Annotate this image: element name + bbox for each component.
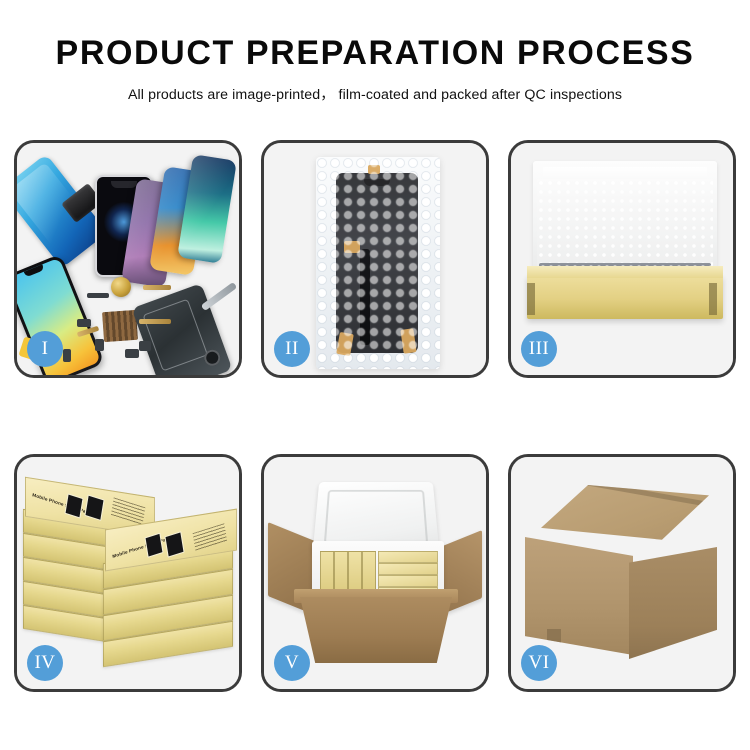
gold-coil-icon — [111, 277, 131, 297]
box-window-icon — [144, 533, 163, 558]
yellow-box-item — [348, 551, 362, 593]
carton-body-icon — [300, 597, 452, 663]
box-window-icon — [64, 493, 83, 518]
step-panel-4: Mobile Phone Spare Parts Mobile Phone Sp… — [14, 454, 242, 692]
step-panel-6: VI — [508, 454, 736, 692]
step-panel-5: V — [261, 454, 489, 692]
yellow-box-item — [334, 551, 348, 593]
carton-tape-icon — [549, 685, 563, 689]
box-label-text: Mobile Phone Spare Parts — [32, 492, 92, 516]
box-spec-lines — [111, 497, 146, 526]
carton-tape-icon — [547, 629, 561, 649]
step-badge-4: IV — [27, 645, 63, 681]
part-dot-icon — [139, 341, 151, 351]
step-panel-2: II — [261, 140, 489, 378]
part-dot-icon — [87, 293, 109, 298]
flex-cable-icon — [139, 319, 171, 324]
step-badge-5: V — [274, 645, 310, 681]
wrapped-screen-icon — [336, 173, 418, 353]
step-badge-6: VI — [521, 645, 557, 681]
box-label-text: Mobile Phone Spare Parts — [112, 535, 172, 559]
bubble-wrap-bag-icon — [316, 157, 440, 369]
product-preparation-process-page: PRODUCT PREPARATION PROCESS All products… — [0, 0, 750, 750]
box-window-icon — [164, 531, 184, 558]
yellow-box-base-icon — [527, 275, 723, 319]
tape-icon — [344, 241, 360, 253]
step-panel-1: I — [14, 140, 242, 378]
part-dot-icon — [95, 339, 104, 351]
screw-grid-icon — [102, 310, 138, 342]
part-dot-icon — [125, 349, 139, 358]
step-badge-3: III — [521, 331, 557, 367]
box-spec-lines — [193, 523, 228, 552]
box-window-icon — [84, 494, 104, 521]
part-dot-icon — [77, 319, 91, 327]
process-steps-grid: I II — [14, 140, 736, 692]
sealed-carton-icon — [525, 485, 721, 661]
yellow-box-item — [362, 551, 376, 593]
part-dot-icon — [63, 349, 71, 362]
carton-side-face — [629, 547, 717, 659]
box-tab-right-icon — [709, 283, 717, 315]
yellow-box-item — [378, 551, 438, 563]
carton-seam-icon — [587, 481, 706, 507]
yellow-box-item — [378, 563, 438, 575]
step-badge-2: II — [274, 331, 310, 367]
step-panel-3: III — [508, 140, 736, 378]
carton-front-face — [525, 537, 633, 655]
flex-cable-icon — [143, 285, 171, 290]
step-badge-1: I — [27, 331, 63, 367]
screen-flex-cable-icon — [360, 249, 370, 345]
tape-icon — [368, 165, 380, 174]
yellow-box-item — [320, 551, 334, 593]
page-subtitle: All products are image-printed， film-coa… — [0, 84, 750, 104]
page-title: PRODUCT PREPARATION PROCESS — [0, 36, 750, 72]
yellow-box-item — [378, 575, 438, 587]
box-tab-left-icon — [527, 283, 535, 315]
page-header: PRODUCT PREPARATION PROCESS All products… — [0, 0, 750, 104]
